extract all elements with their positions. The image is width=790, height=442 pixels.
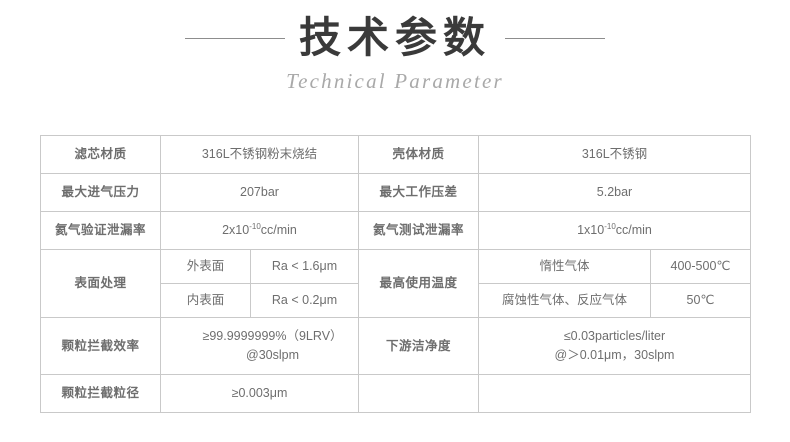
cell-label-particle-retention-efficiency: 颗粒拦截效率: [41, 318, 161, 375]
efficiency-line-1: ≥99.9999999%（9LRV）: [191, 327, 354, 346]
leak-rate-exponent: -10: [604, 222, 616, 231]
cell-label-surface-treatment: 表面处理: [41, 250, 161, 318]
cell-value-outer-surface: Ra < 1.6μm: [251, 250, 359, 284]
cell-value-helium-verification-leak-rate: 2x10-10cc/min: [161, 212, 359, 250]
cell-value-inner-surface: Ra < 0.2μm: [251, 284, 359, 318]
cell-sublabel-corrosive-reactive-gas: 腐蚀性气体、反应气体: [479, 284, 651, 318]
cell-value-housing-material: 316L不锈钢: [479, 136, 751, 174]
cell-label-max-inlet-pressure: 最大进气压力: [41, 174, 161, 212]
table-row: 最大进气压力 207bar 最大工作压差 5.2bar: [41, 174, 751, 212]
cell-value-particle-retention-size: ≥0.003μm: [161, 375, 359, 413]
cell-value-helium-test-leak-rate: 1x10-10cc/min: [479, 212, 751, 250]
cell-value-corrosive-reactive-gas-temperature: 50℃: [651, 284, 751, 318]
cell-value-downstream-cleanliness: ≤0.03particles/liter @＞0.01μm，30slpm: [479, 318, 751, 375]
cell-value-filter-material: 316L不锈钢粉末烧结: [161, 136, 359, 174]
cell-label-max-operating-temperature: 最高使用温度: [359, 250, 479, 318]
cell-value-max-inlet-pressure: 207bar: [161, 174, 359, 212]
cell-label-helium-test-leak-rate: 氦气测试泄漏率: [359, 212, 479, 250]
cell-value-max-working-diff-pressure: 5.2bar: [479, 174, 751, 212]
leak-rate-unit: cc/min: [261, 223, 297, 237]
cell-label-filter-material: 滤芯材质: [41, 136, 161, 174]
leak-rate-exponent: -10: [249, 222, 261, 231]
cell-label-particle-retention-size: 颗粒拦截粒径: [41, 375, 161, 413]
cell-empty-label-right: [359, 375, 479, 413]
cleanliness-line-2: @＞0.01μm，30slpm: [483, 346, 746, 365]
leak-rate-unit: cc/min: [616, 223, 652, 237]
table-row: 氦气验证泄漏率 2x10-10cc/min 氦气测试泄漏率 1x10-10cc/…: [41, 212, 751, 250]
title-row: 技术参数: [0, 14, 790, 62]
table-row: 颗粒拦截粒径 ≥0.003μm: [41, 375, 751, 413]
page-header: 技术参数 Technical Parameter: [0, 0, 790, 94]
leak-rate-base: 1x10: [577, 223, 604, 237]
cell-label-max-working-diff-pressure: 最大工作压差: [359, 174, 479, 212]
cell-empty-value-right: [479, 375, 751, 413]
leak-rate-base: 2x10: [222, 223, 249, 237]
cell-sublabel-outer-surface: 外表面: [161, 250, 251, 284]
table-row: 表面处理 外表面 Ra < 1.6μm 最高使用温度 惰性气体 400-500℃: [41, 250, 751, 284]
spec-table-container: 滤芯材质 316L不锈钢粉末烧结 壳体材质 316L不锈钢 最大进气压力 207…: [40, 135, 750, 413]
table-row: 颗粒拦截效率 ≥99.9999999%（9LRV） @30slpm 下游洁净度 …: [41, 318, 751, 375]
efficiency-line-2: @30slpm: [191, 346, 354, 365]
cell-label-downstream-cleanliness: 下游洁净度: [359, 318, 479, 375]
page-title: 技术参数: [299, 14, 491, 62]
table-row: 滤芯材质 316L不锈钢粉末烧结 壳体材质 316L不锈钢: [41, 136, 751, 174]
title-rule-left: [185, 38, 285, 39]
cleanliness-line-1: ≤0.03particles/liter: [483, 327, 746, 346]
cell-sublabel-inert-gas: 惰性气体: [479, 250, 651, 284]
cell-sublabel-inner-surface: 内表面: [161, 284, 251, 318]
cell-label-housing-material: 壳体材质: [359, 136, 479, 174]
cell-label-helium-verification-leak-rate: 氦气验证泄漏率: [41, 212, 161, 250]
cell-value-inert-gas-temperature: 400-500℃: [651, 250, 751, 284]
page-subtitle: Technical Parameter: [0, 69, 790, 94]
title-rule-right: [505, 38, 605, 39]
cell-value-particle-retention-efficiency: ≥99.9999999%（9LRV） @30slpm: [161, 318, 359, 375]
spec-table: 滤芯材质 316L不锈钢粉末烧结 壳体材质 316L不锈钢 最大进气压力 207…: [40, 135, 751, 413]
